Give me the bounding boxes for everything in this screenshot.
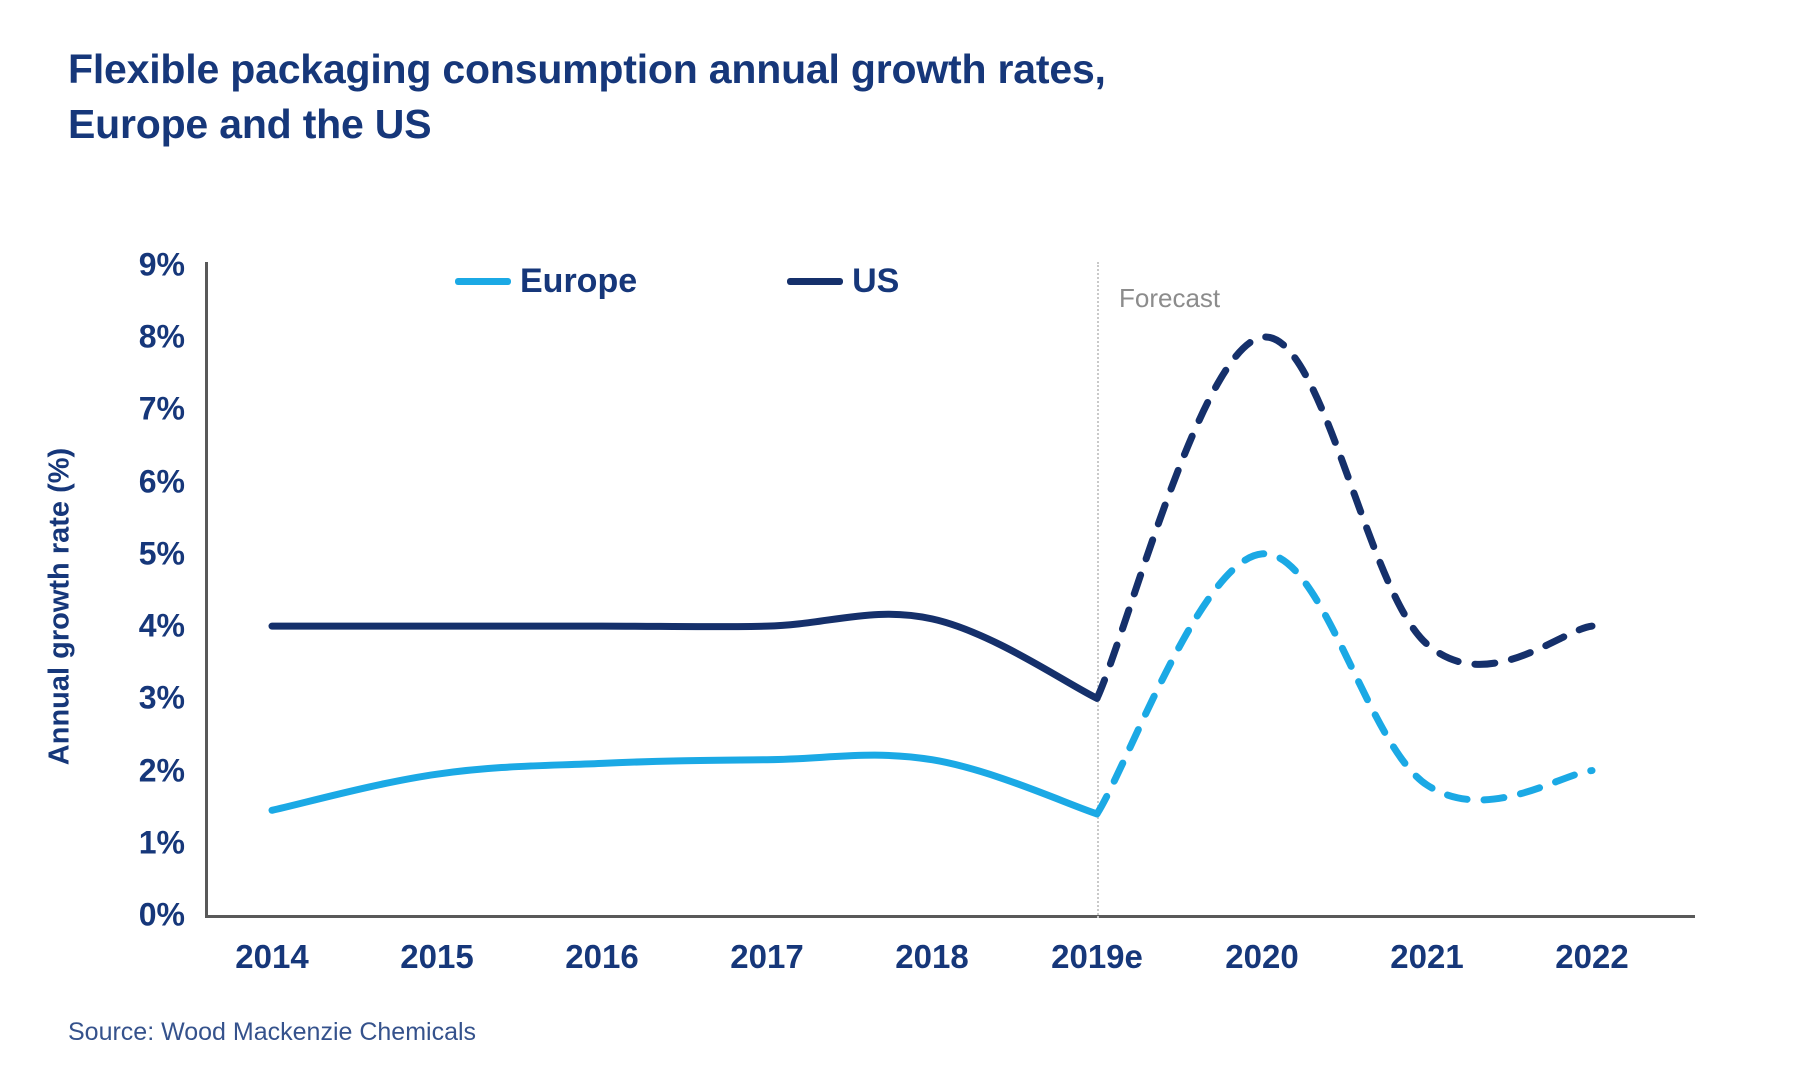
legend-item-us[interactable]: US [787, 262, 899, 301]
x-tick-label: 2020 [1172, 938, 1352, 976]
x-tick-label: 2021 [1337, 938, 1517, 976]
y-axis-line [205, 262, 208, 918]
forecast-divider-line [1097, 262, 1099, 918]
y-tick-label: 8% [105, 319, 185, 356]
source-note: Source: Wood Mackenzie Chemicals [68, 1018, 476, 1047]
legend-label: US [852, 262, 899, 301]
y-tick-label: 2% [105, 752, 185, 789]
legend-item-europe[interactable]: Europe [455, 262, 637, 301]
legend-line-icon [787, 278, 843, 285]
chart-page: Flexible packaging consumption annual gr… [0, 0, 1800, 1080]
chart-container: Annual growth rate (%) 0%1%2%3%4%5%6%7%8… [0, 0, 1800, 1080]
y-tick-label: 4% [105, 608, 185, 645]
x-tick-label: 2015 [347, 938, 527, 976]
series-line-europe-actual [272, 755, 1097, 814]
y-tick-label: 5% [105, 535, 185, 572]
x-tick-label: 2017 [677, 938, 857, 976]
x-tick-label: 2022 [1502, 938, 1682, 976]
x-tick-label: 2014 [182, 938, 362, 976]
y-tick-label: 9% [105, 247, 185, 284]
series-lines [0, 0, 1800, 1080]
x-axis-line [205, 915, 1695, 918]
y-tick-label: 7% [105, 391, 185, 428]
forecast-label: Forecast [1119, 283, 1220, 314]
chart-legend: EuropeUS [455, 262, 899, 301]
series-line-europe-forecast [1097, 554, 1592, 814]
legend-line-icon [455, 278, 511, 285]
x-tick-label: 2019e [1007, 938, 1187, 976]
series-line-us-actual [272, 614, 1097, 698]
x-tick-label: 2016 [512, 938, 692, 976]
y-tick-label: 0% [105, 897, 185, 934]
series-line-us-forecast [1097, 337, 1592, 698]
y-tick-label: 6% [105, 463, 185, 500]
x-tick-label: 2018 [842, 938, 1022, 976]
y-tick-label: 1% [105, 824, 185, 861]
y-axis-title: Annual growth rate (%) [44, 327, 77, 887]
legend-label: Europe [520, 262, 637, 301]
y-tick-label: 3% [105, 680, 185, 717]
